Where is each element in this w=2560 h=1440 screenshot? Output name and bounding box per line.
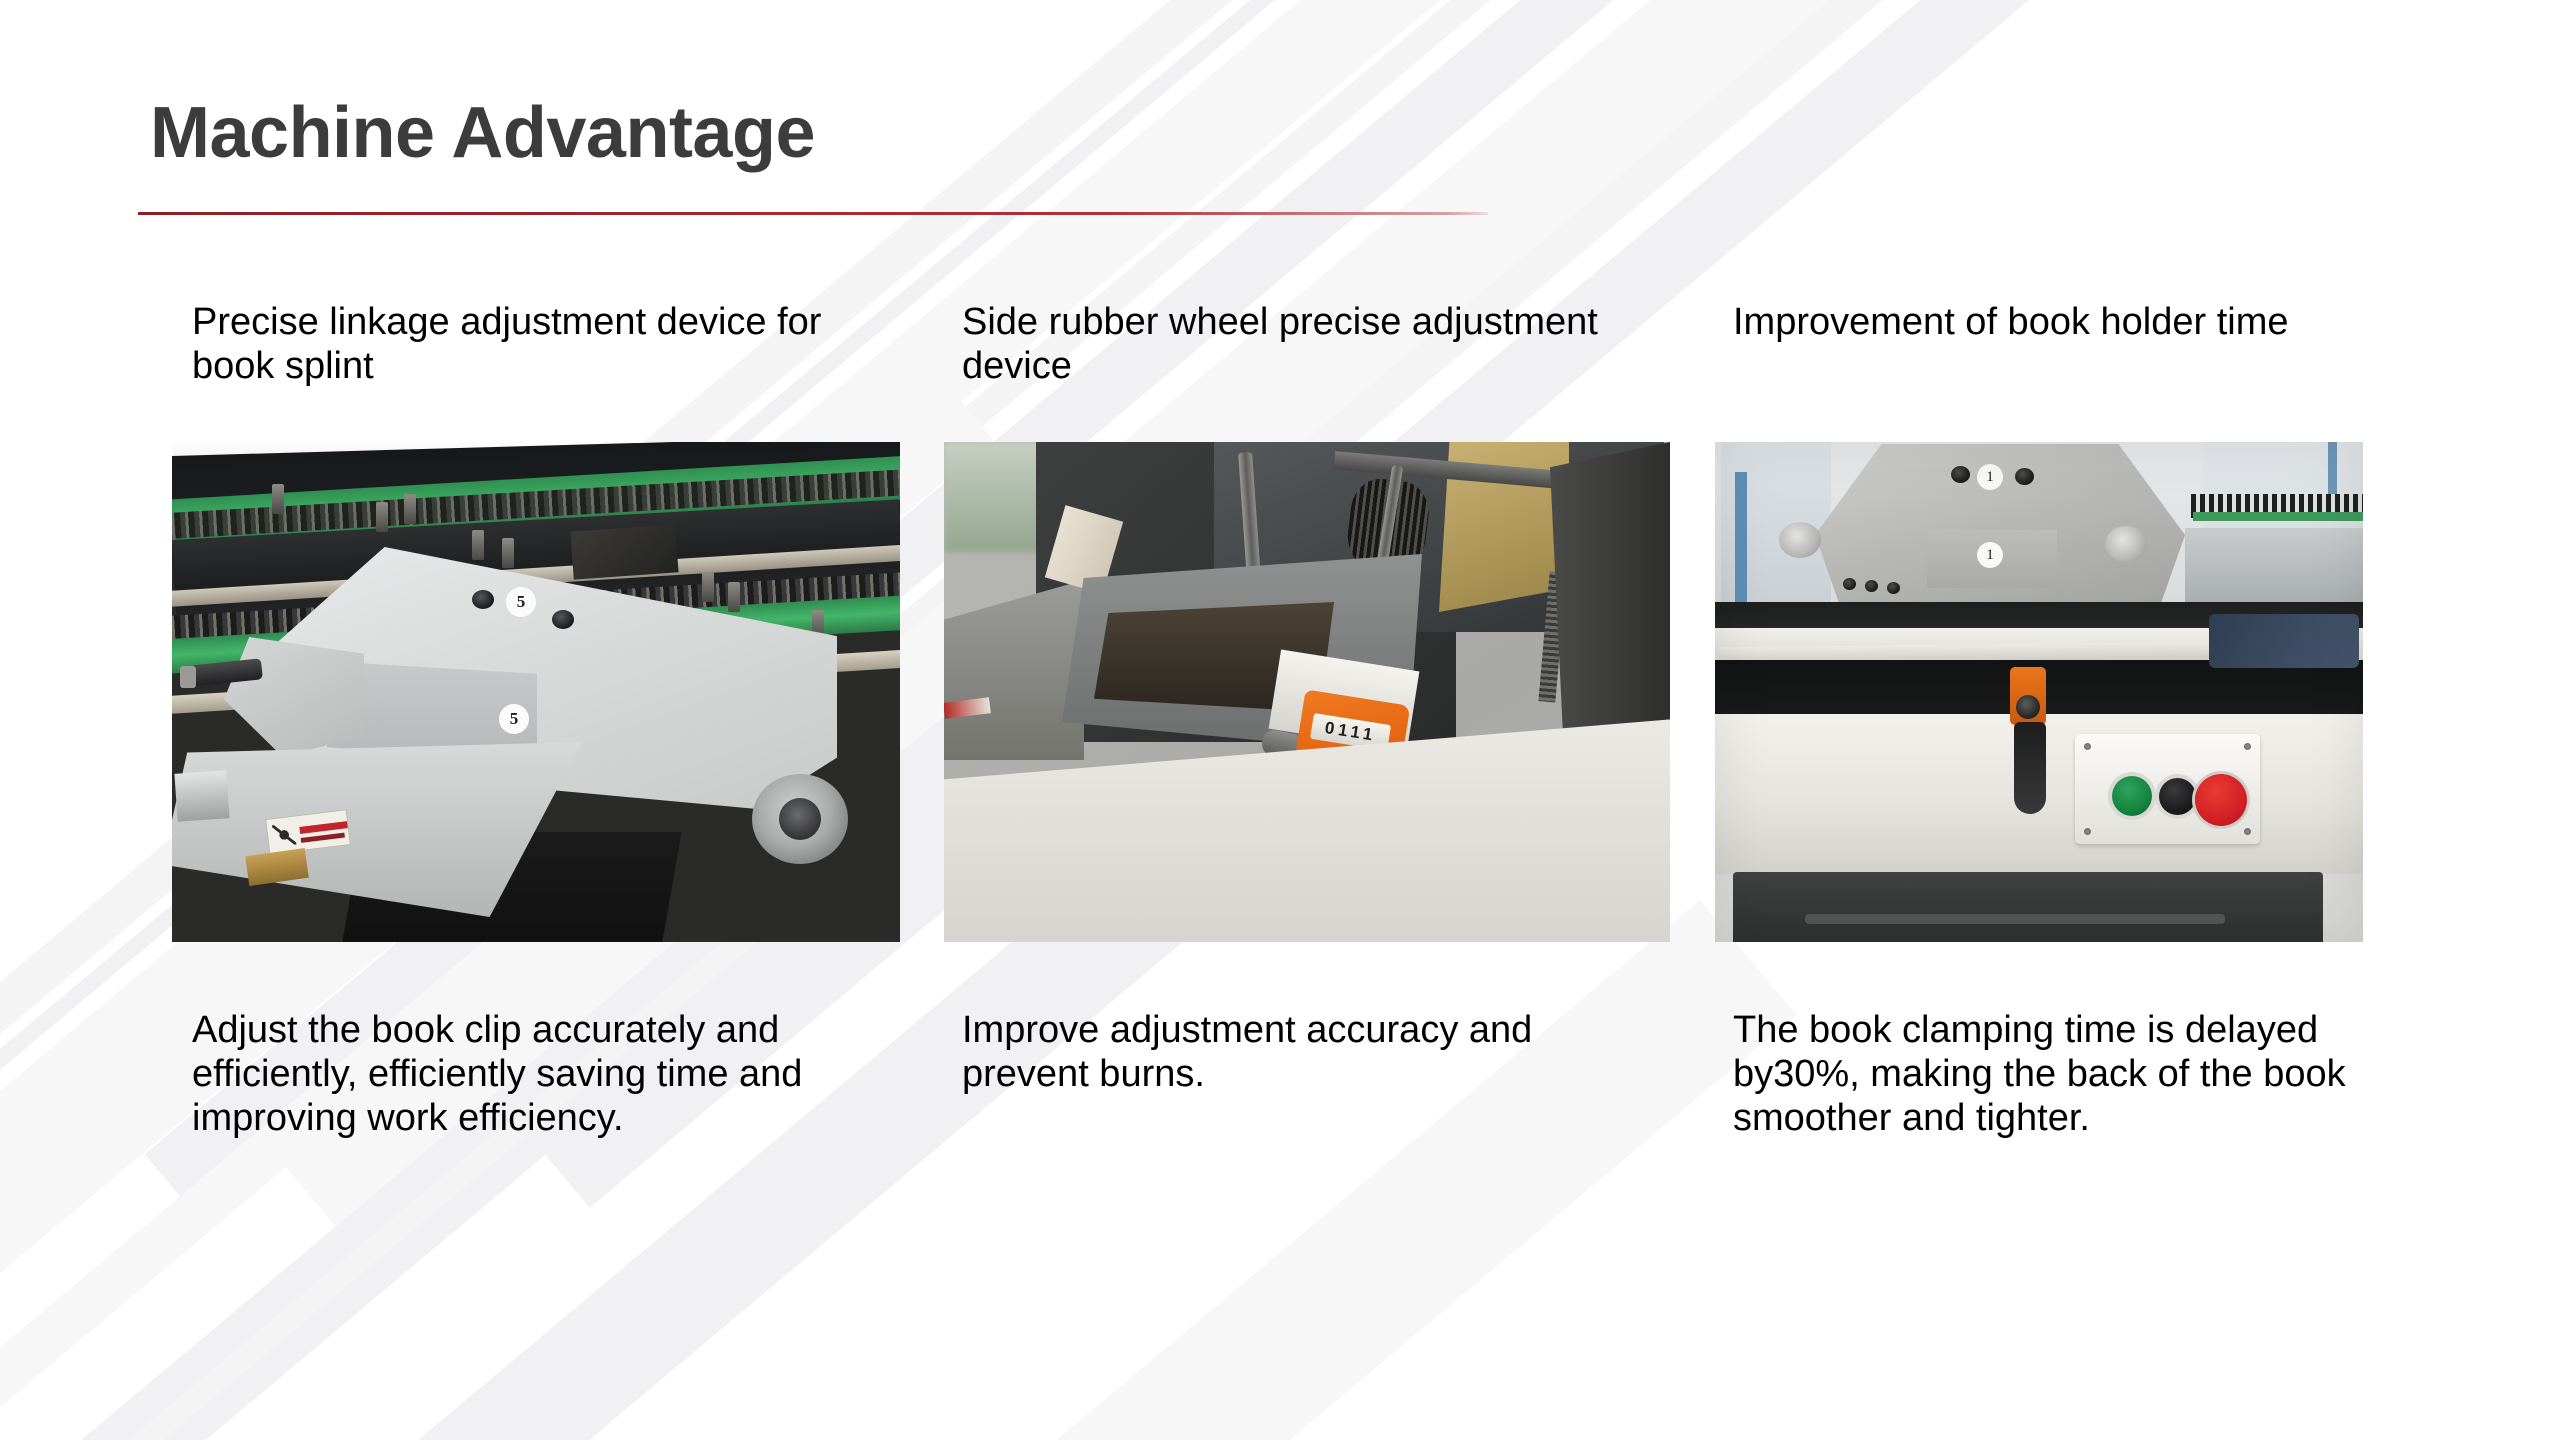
feature-column-2: Side rubber wheel precise adjustment dev…: [962, 300, 1692, 389]
page-title: Machine Advantage: [150, 97, 815, 169]
feature-heading-3: Improvement of book holder time: [1733, 300, 2393, 344]
plate-badge-1: 5: [506, 587, 536, 617]
book-holder-control-panel-photo: 1 1: [1715, 442, 2363, 942]
plate-badge-2: 5: [499, 704, 529, 734]
title-underline-rule: [138, 212, 1488, 215]
feature-heading-2: Side rubber wheel precise adjustment dev…: [962, 300, 1622, 389]
slide-machine-advantage: Machine Advantage Precise linkage adjust…: [0, 0, 2560, 1440]
linkage-adjustment-device-photo: 5 5: [172, 442, 900, 942]
feature-column-3: Improvement of book holder time 1: [1733, 300, 2463, 344]
side-rubber-wheel-device-photo: 0111: [944, 442, 1670, 942]
feature-column-1: Precise linkage adjustment device for bo…: [192, 300, 922, 389]
feature-caption-1: Adjust the book clip accurately and effi…: [192, 1008, 872, 1140]
feature-caption-3: The book clamping time is delayed by30%,…: [1733, 1008, 2423, 1140]
feature-caption-2: Improve adjustment accuracy and prevent …: [962, 1008, 1642, 1096]
feature-heading-1: Precise linkage adjustment device for bo…: [192, 300, 852, 389]
